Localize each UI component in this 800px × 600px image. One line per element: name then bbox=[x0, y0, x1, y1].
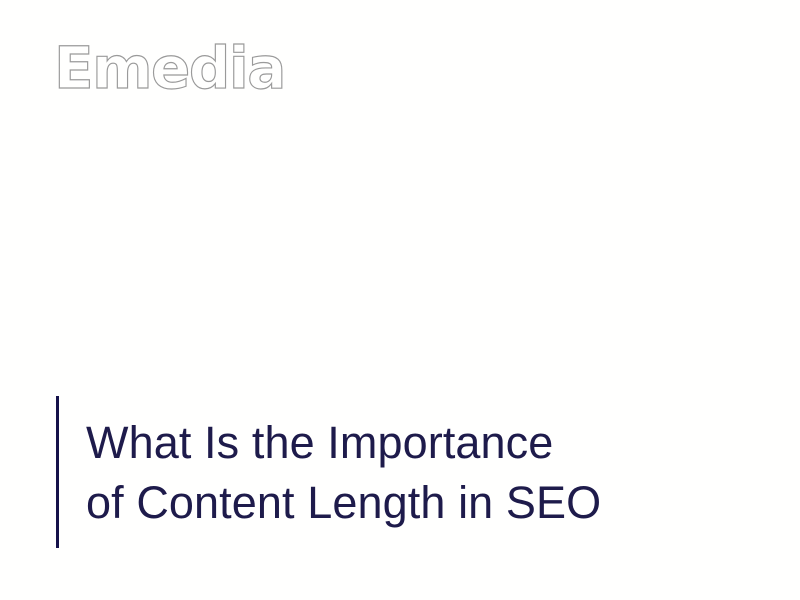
brand-logo[interactable]: Emedia bbox=[54, 38, 294, 102]
page-title: What Is the Importance of Content Length… bbox=[86, 396, 601, 548]
brand-logo-wordmark: Emedia bbox=[54, 34, 285, 102]
title-block: What Is the Importance of Content Length… bbox=[56, 396, 601, 548]
brand-logo-outline-icon: Emedia bbox=[54, 38, 294, 102]
slide-canvas: Emedia What Is the Importance of Content… bbox=[0, 0, 800, 600]
title-accent-bar bbox=[56, 396, 59, 548]
